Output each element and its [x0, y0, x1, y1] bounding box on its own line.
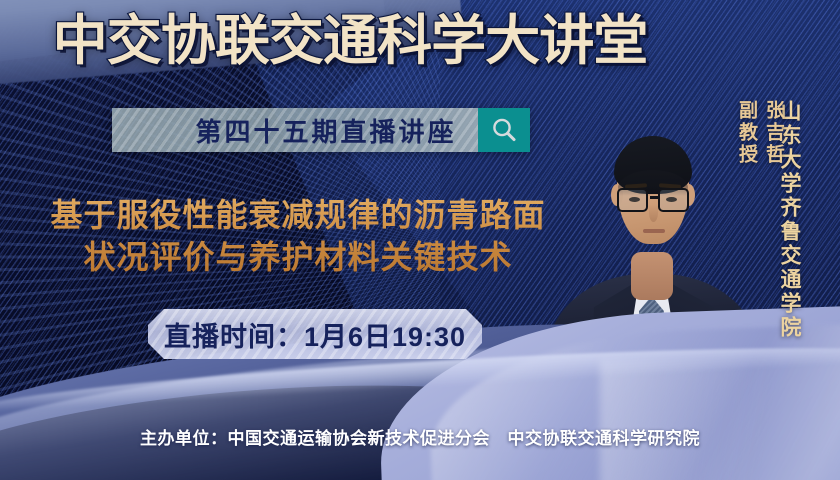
live-time-label: 直播时间：1月6日19:30: [164, 315, 466, 354]
portrait-neck: [631, 252, 673, 300]
live-time-badge: 直播时间：1月6日19:30: [148, 309, 482, 359]
lecture-title: 基于服役性能衰减规律的沥青路面 状况评价与养护材料关键技术: [24, 194, 572, 278]
speaker-name-block: 张吉哲 副教授: [733, 100, 787, 166]
organizer-footer: 主办单位：中国交通运输协会新技术促进分会 中交协联交通科学研究院: [0, 424, 840, 449]
episode-bar-body: 第四十五期直播讲座: [112, 108, 478, 152]
speaker-rank: 副教授: [736, 100, 757, 166]
glasses-lens-left: [617, 188, 648, 212]
episode-label: 第四十五期直播讲座: [133, 112, 456, 149]
portrait-mouth: [643, 229, 665, 233]
portrait-nose: [649, 204, 658, 222]
episode-bar: 第四十五期直播讲座: [112, 108, 530, 152]
speaker-name: 张吉哲: [763, 100, 784, 166]
search-icon[interactable]: [478, 108, 530, 152]
silk-panel-right-sheen: [600, 360, 840, 480]
page-title: 中交协联交通科学大讲堂: [0, 14, 707, 68]
glasses-lens-right: [658, 188, 689, 212]
glasses-bridge: [650, 196, 658, 199]
webinar-poster: 中交协联交通科学大讲堂 第四十五期直播讲座 基于服役性能衰减规律的沥青路面 状况…: [0, 0, 840, 480]
